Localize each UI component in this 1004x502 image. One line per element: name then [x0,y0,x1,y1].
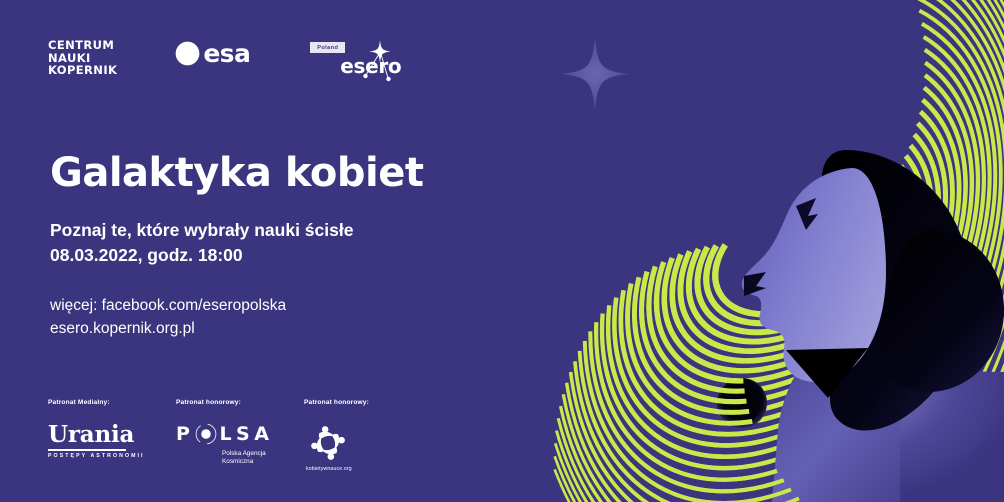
spiral-line [474,0,1004,502]
partner-urania: Patronat Medialny: Urania POSTĘPY ASTRON… [48,399,176,459]
spiral-lines-front [467,0,1004,502]
eye-lash [796,198,818,230]
logo-centrum-nauki-kopernik: CENTRUM NAUKI KOPERNIK [48,38,117,77]
spiral-line [632,106,948,405]
spiral-line [467,0,1004,502]
spiral-line [488,0,1004,502]
esero-country-badge: Poland [310,42,345,53]
spiral-line [552,10,1004,500]
spiral-line [620,92,961,418]
spiral-line [508,0,1004,502]
links-group: więcej: facebook.com/eseropolska esero.k… [50,294,480,340]
subtitle-line: Poznaj te, które wybrały nauki ścisłe [50,218,480,243]
partner-label-honorary-2: Patronat honorowy: [304,399,424,407]
spiral-line [494,0,1004,502]
spiral-line [469,0,1004,502]
spiral-line [563,24,1004,487]
subtitle-group: Poznaj te, które wybrały nauki ścisłe 08… [50,218,480,268]
urania-rule [48,449,126,451]
four-pointed-star-icon [561,38,629,110]
esero-wordmark: esero [340,56,401,76]
spiral-lines-back [467,0,1004,502]
spiral-line [524,0,1004,502]
spiral-line [669,146,910,365]
header-logo-row: CENTRUM NAUKI KOPERNIK esa Poland esero [48,38,404,86]
spiral-line [552,10,1004,500]
spiral-line [695,172,885,339]
spiral-line [563,24,1004,487]
spiral-line [488,0,1004,502]
spiral-line [644,119,935,391]
logo-esero-poland: Poland esero [308,38,404,86]
website-link[interactable]: esero.kopernik.org.pl [50,317,480,340]
shoulder [812,370,1004,502]
spiral-line [524,0,1004,502]
spiral-line [501,0,1004,502]
spiral-line [471,0,1004,502]
logo-polsa: P LSA Polska Agencja Kosmiczna [176,423,304,467]
spiral-line [608,78,972,432]
spiral-line [657,133,923,378]
event-datetime: 08.03.2022, godz. 18:00 [50,243,480,268]
spiral-line [533,0,1004,502]
logo-esa: esa [175,38,250,66]
polsa-letters-lsa: LSA [219,424,273,444]
spiral-line [682,159,898,351]
spiral-line [585,51,996,459]
partner-label-media: Patronat Medialny: [48,399,176,407]
partner-logo-row: Patronat Medialny: Urania POSTĘPY ASTRON… [48,399,424,472]
spiral-line [468,0,1004,502]
polsa-subtitle-line-1: Polska Agencja [222,450,304,458]
spiral-line [478,0,1004,502]
polsa-planet-icon [195,423,217,445]
spiral-line [471,0,1004,502]
spiral-line [632,106,948,405]
spiral-line [596,65,984,446]
cnk-line-3: KOPERNIK [48,64,117,77]
polsa-subtitle-line-2: Kosmiczna [222,458,304,466]
spiral-line [469,0,1004,502]
poster-canvas: CENTRUM NAUKI KOPERNIK esa Poland esero [0,0,1004,502]
headline-block: Galaktyka kobiet Poznaj te, które wybrał… [50,150,480,340]
spiral-line [669,146,910,365]
cnk-line-1: CENTRUM [48,39,117,52]
spiral-line [695,172,885,339]
partner-polsa: Patronat honorowy: P LSA Polska Agencja … [176,399,304,467]
spiral-line [468,0,1004,502]
logo-kobiety-w-nauce: kobietywnauce.org [304,423,424,472]
spiral-line [478,0,1004,502]
spiral-line [508,0,1004,502]
spiral-line [516,0,1004,502]
esa-wordmark: esa [203,41,250,66]
spiral-line [516,0,1004,502]
spiral-line [620,92,961,418]
spiral-line [608,78,972,432]
spiral-line [573,37,1004,473]
spiral-line [467,0,1004,502]
page-title: Galaktyka kobiet [50,150,480,196]
partner-kobiety-w-nauce: Patronat honorowy: [304,399,424,472]
spiral-line [682,159,898,351]
spiral-line [483,0,1004,502]
spiral-line [501,0,1004,502]
spiral-line [467,0,1004,502]
neck [772,336,900,502]
logo-urania: Urania POSTĘPY ASTRONOMII [48,423,176,459]
ear-stud [717,378,767,428]
spiral-line [483,0,1004,502]
spiral-line [467,0,1004,502]
spiral-line [467,0,1004,502]
spiral-line [657,133,923,378]
partner-label-honorary-1: Patronat honorowy: [176,399,304,407]
spiral-line [644,119,935,391]
spiral-line [573,37,1004,473]
spiral-line [543,0,1004,502]
spiral-line [585,51,996,459]
spiral-line [533,0,1004,502]
facebook-link[interactable]: więcej: facebook.com/eseropolska [50,294,480,317]
pinwheel-figures-icon [306,423,350,463]
spiral-line [494,0,1004,502]
lip-notch [744,272,766,296]
urania-wordmark: Urania [48,423,176,447]
jaw-shadow [786,348,868,398]
face-profile [742,168,886,382]
hair-mass [822,150,970,431]
polsa-subtitle: Polska Agencja Kosmiczna [222,450,304,467]
polsa-letter-p: P [176,424,194,444]
urania-tagline: POSTĘPY ASTRONOMII [48,453,176,459]
spiral-line [596,65,984,446]
spiral-line [543,0,1004,502]
spiral-line [474,0,1004,502]
woman-figure [717,150,1004,502]
esa-circle-icon [175,41,200,66]
kobiety-w-nauce-url: kobietywnauce.org [306,466,352,472]
spiral-line [467,0,1004,502]
hair-bun [880,230,1004,392]
